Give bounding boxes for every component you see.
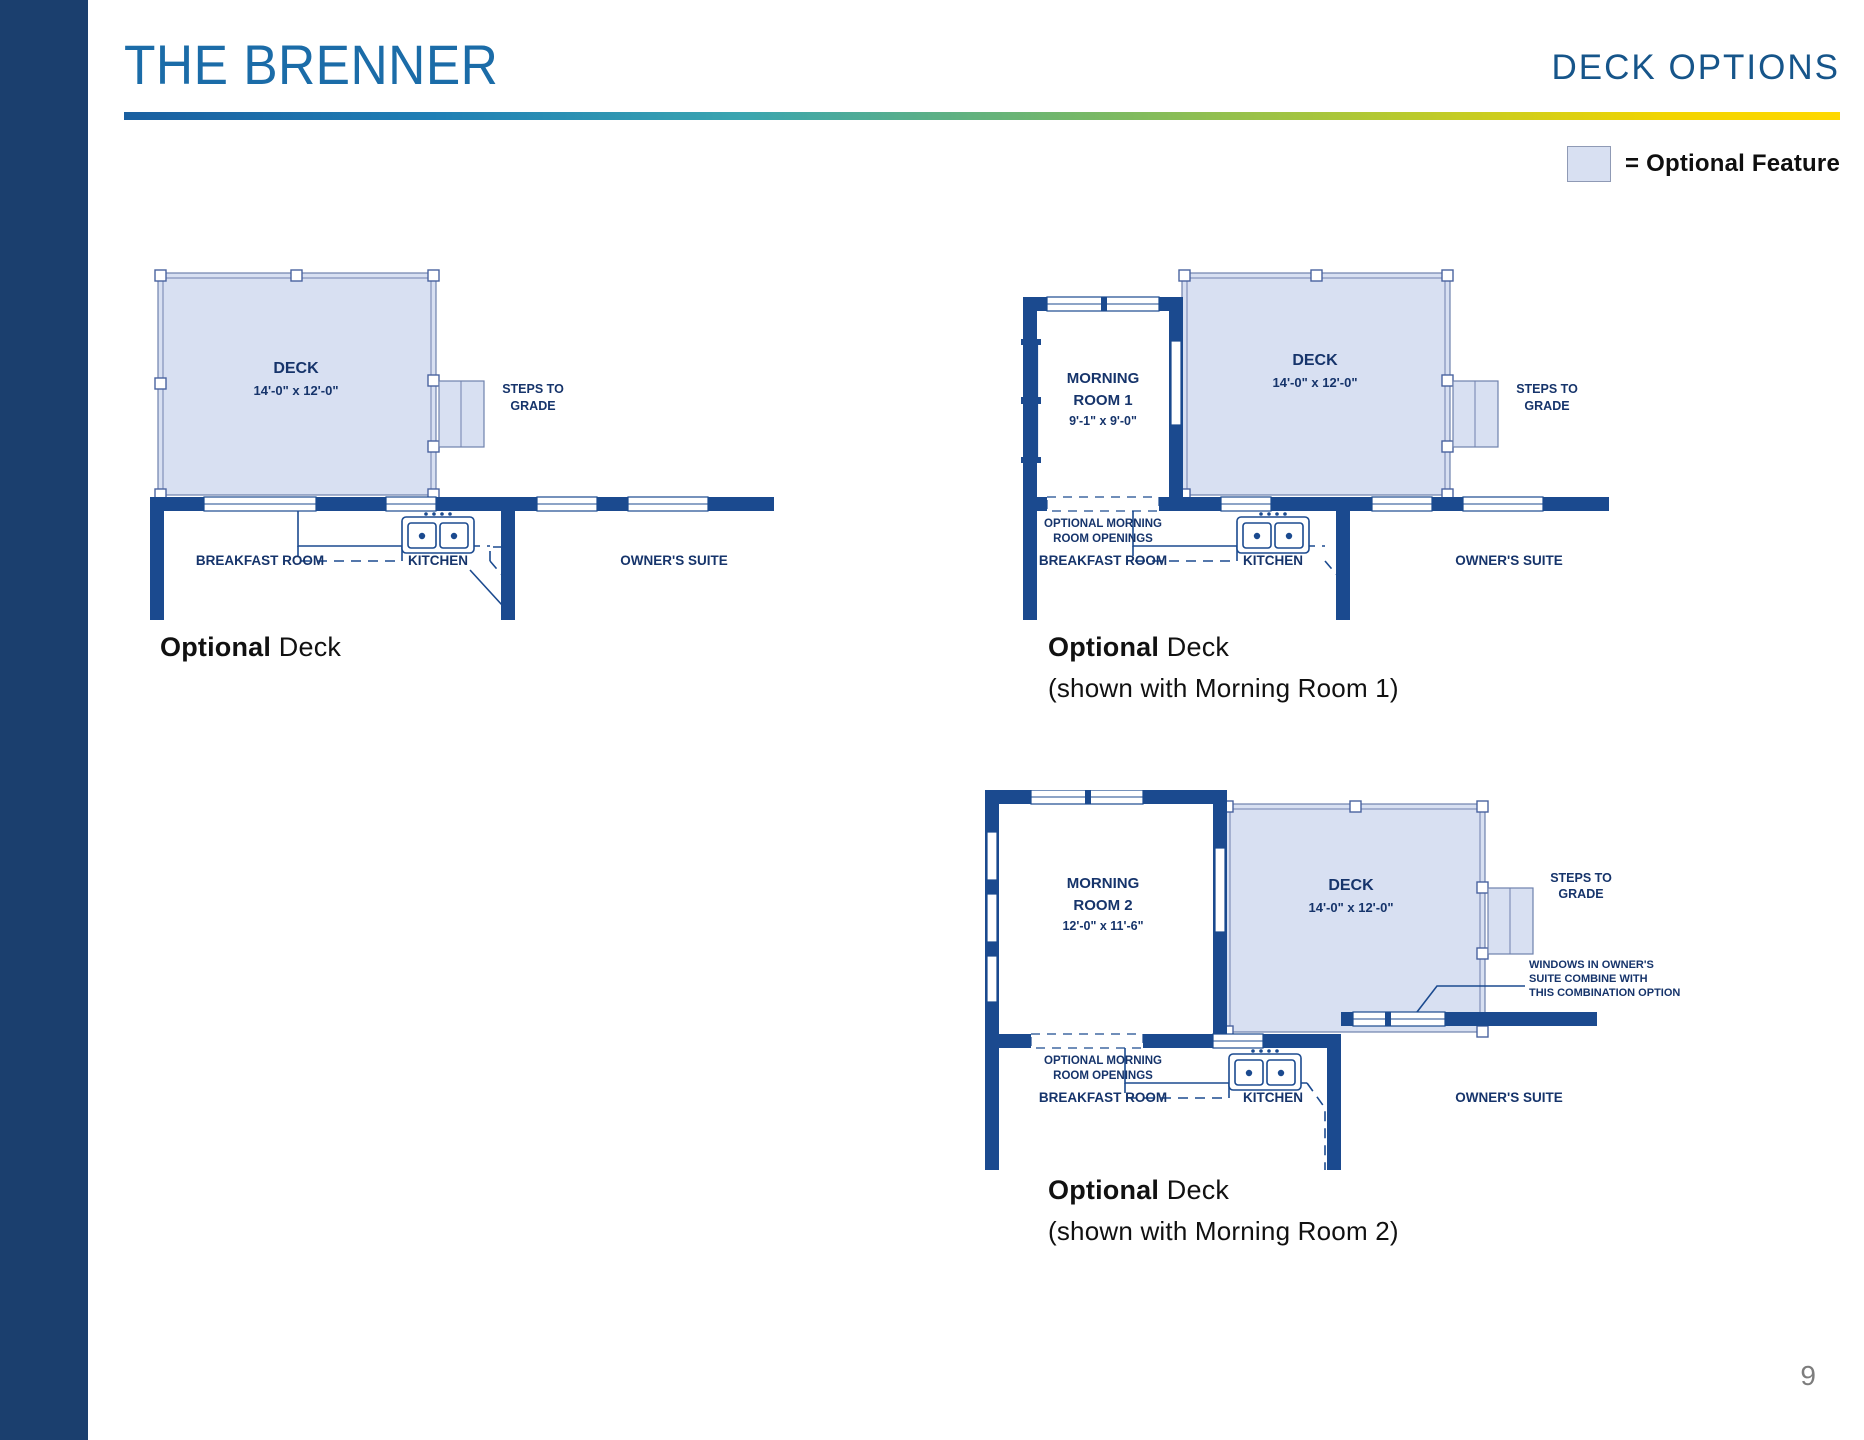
caption-3-line2: (shown with Morning Room 2) <box>1048 1216 1399 1247</box>
kitchen-fixtures <box>298 511 502 620</box>
deck-dims: 14'-0" x 12'-0" <box>1308 900 1393 915</box>
section-title: DECK OPTIONS <box>1552 48 1840 88</box>
floorplan-deck-morning-2: DECK 14'-0" x 12'-0" MORNING ROOM 2 12'-… <box>985 790 1775 1170</box>
morning-room-dims: 12'-0" x 11'-6" <box>1062 919 1143 933</box>
room-label-breakfast: BREAKFAST ROOM <box>1039 1090 1167 1105</box>
morning-room-dims: 9'-1" x 9'-0" <box>1069 414 1137 428</box>
floorplan-deck-only: DECK 14'-0" x 12'-0" STEPS TO GRADE BREA… <box>150 265 910 620</box>
caption-plan-3: Optional Deck (shown with Morning Room 2… <box>1048 1175 1399 1247</box>
room-label-breakfast: BREAKFAST ROOM <box>196 553 324 568</box>
floorplan-svg-deck-morning-1: DECK 14'-0" x 12'-0" MORNING ROOM 1 9'-1… <box>985 265 1775 620</box>
caption-2-line2: (shown with Morning Room 1) <box>1048 673 1399 704</box>
morning-room-label-line2: ROOM 2 <box>1073 897 1132 914</box>
morning-room-label-line2: ROOM 1 <box>1073 392 1132 409</box>
legend: = Optional Feature <box>1567 146 1840 182</box>
optional-morning-openings-line1: OPTIONAL MORNING <box>1044 518 1162 530</box>
morning-room-label-line1: MORNING <box>1067 370 1140 387</box>
deck-label: DECK <box>1328 877 1374 894</box>
morning-room-label-line1: MORNING <box>1067 875 1140 892</box>
page-root: THE BRENNER DECK OPTIONS = Optional Feat… <box>0 0 1864 1440</box>
room-label-breakfast: BREAKFAST ROOM <box>1039 553 1167 568</box>
room-label-owners-suite: OWNER'S SUITE <box>1455 1090 1562 1105</box>
room-label-kitchen: KITCHEN <box>408 553 468 568</box>
legend-label: = Optional Feature <box>1625 150 1840 178</box>
room-label-kitchen: KITCHEN <box>1243 1090 1303 1105</box>
deck-dims: 14'-0" x 12'-0" <box>1272 375 1357 390</box>
deck-label: DECK <box>1292 352 1338 369</box>
owners-suite-note-line3: THIS COMBINATION OPTION <box>1529 987 1680 999</box>
legend-swatch-optional-feature <box>1567 146 1611 182</box>
deck-label: DECK <box>273 360 319 377</box>
left-navy-spine <box>0 0 88 1440</box>
room-label-owners-suite: OWNER'S SUITE <box>620 553 727 568</box>
caption-3-bold: Optional <box>1048 1175 1159 1205</box>
owners-suite-note-line1: WINDOWS IN OWNER'S <box>1529 959 1654 971</box>
room-label-owners-suite: OWNER'S SUITE <box>1455 553 1562 568</box>
deck-area <box>1225 804 1485 1032</box>
caption-2-bold: Optional <box>1048 632 1159 662</box>
caption-3-rest: Deck <box>1159 1175 1229 1205</box>
gradient-rule <box>124 112 1840 120</box>
floorplan-svg-deck-only: DECK 14'-0" x 12'-0" STEPS TO GRADE BREA… <box>150 265 910 620</box>
floorplan-deck-morning-1: DECK 14'-0" x 12'-0" MORNING ROOM 1 9'-1… <box>985 265 1775 620</box>
steps-label-line2: GRADE <box>510 399 555 413</box>
optional-morning-openings-line1: OPTIONAL MORNING <box>1044 1055 1162 1067</box>
page-number: 9 <box>1800 1360 1816 1392</box>
caption-plan-2: Optional Deck (shown with Morning Room 1… <box>1048 632 1399 704</box>
steps-label-line2: GRADE <box>1558 887 1603 901</box>
owners-suite-note-line2: SUITE COMBINE WITH <box>1529 973 1648 985</box>
deck-dims: 14'-0" x 12'-0" <box>253 383 338 398</box>
caption-2-rest: Deck <box>1159 632 1229 662</box>
steps-label-line1: STEPS TO <box>1550 871 1612 885</box>
steps-label-line2: GRADE <box>1524 399 1569 413</box>
optional-morning-openings-line2: ROOM OPENINGS <box>1053 1070 1153 1082</box>
page-title: THE BRENNER <box>124 32 498 97</box>
floorplan-svg-deck-morning-2: DECK 14'-0" x 12'-0" MORNING ROOM 2 12'-… <box>985 790 1775 1170</box>
steps-label-line1: STEPS TO <box>1516 382 1578 396</box>
room-label-kitchen: KITCHEN <box>1243 553 1303 568</box>
steps-label-line1: STEPS TO <box>502 382 564 396</box>
caption-plan-1: Optional Deck <box>160 632 341 663</box>
optional-morning-openings-line2: ROOM OPENINGS <box>1053 533 1153 545</box>
caption-1-rest: Deck <box>271 632 341 662</box>
caption-1-bold: Optional <box>160 632 271 662</box>
